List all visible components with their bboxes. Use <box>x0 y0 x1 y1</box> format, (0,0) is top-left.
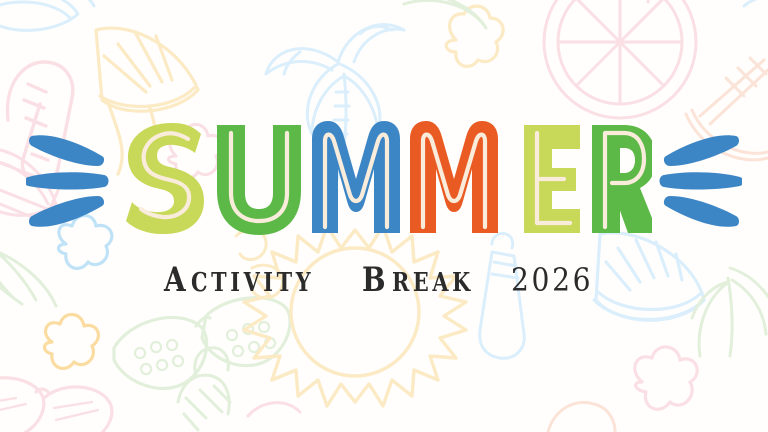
subtitle-word-break: B REAK <box>362 263 494 297</box>
letter-E <box>524 125 580 233</box>
subtitle-rest-activity: CTIVITY <box>191 270 314 296</box>
burst-rays-right <box>658 120 742 238</box>
letter-S <box>126 123 204 234</box>
title-row <box>26 117 742 241</box>
subtitle-word-activity: A CTIVITY <box>164 263 345 297</box>
letter-U <box>217 125 301 235</box>
subtitle-cap-b: B <box>362 263 386 297</box>
letter-R <box>592 125 652 233</box>
burst-rays-left <box>26 120 110 238</box>
summer-wordmark <box>116 117 520 241</box>
burst-ray <box>26 135 109 227</box>
burst-ray <box>660 135 743 227</box>
summer-poster: A CTIVITY B REAK 2026 <box>0 0 768 432</box>
subtitle: A CTIVITY B REAK 2026 <box>164 263 605 297</box>
poster-content: A CTIVITY B REAK 2026 <box>0 0 768 432</box>
subtitle-year: 2026 <box>511 264 593 296</box>
subtitle-rest-break: REAK <box>392 270 474 296</box>
letter-M-1 <box>312 121 400 233</box>
subtitle-cap-a: A <box>164 263 186 297</box>
summer-wordmark-tail <box>520 117 652 241</box>
letter-M-2 <box>410 121 498 233</box>
